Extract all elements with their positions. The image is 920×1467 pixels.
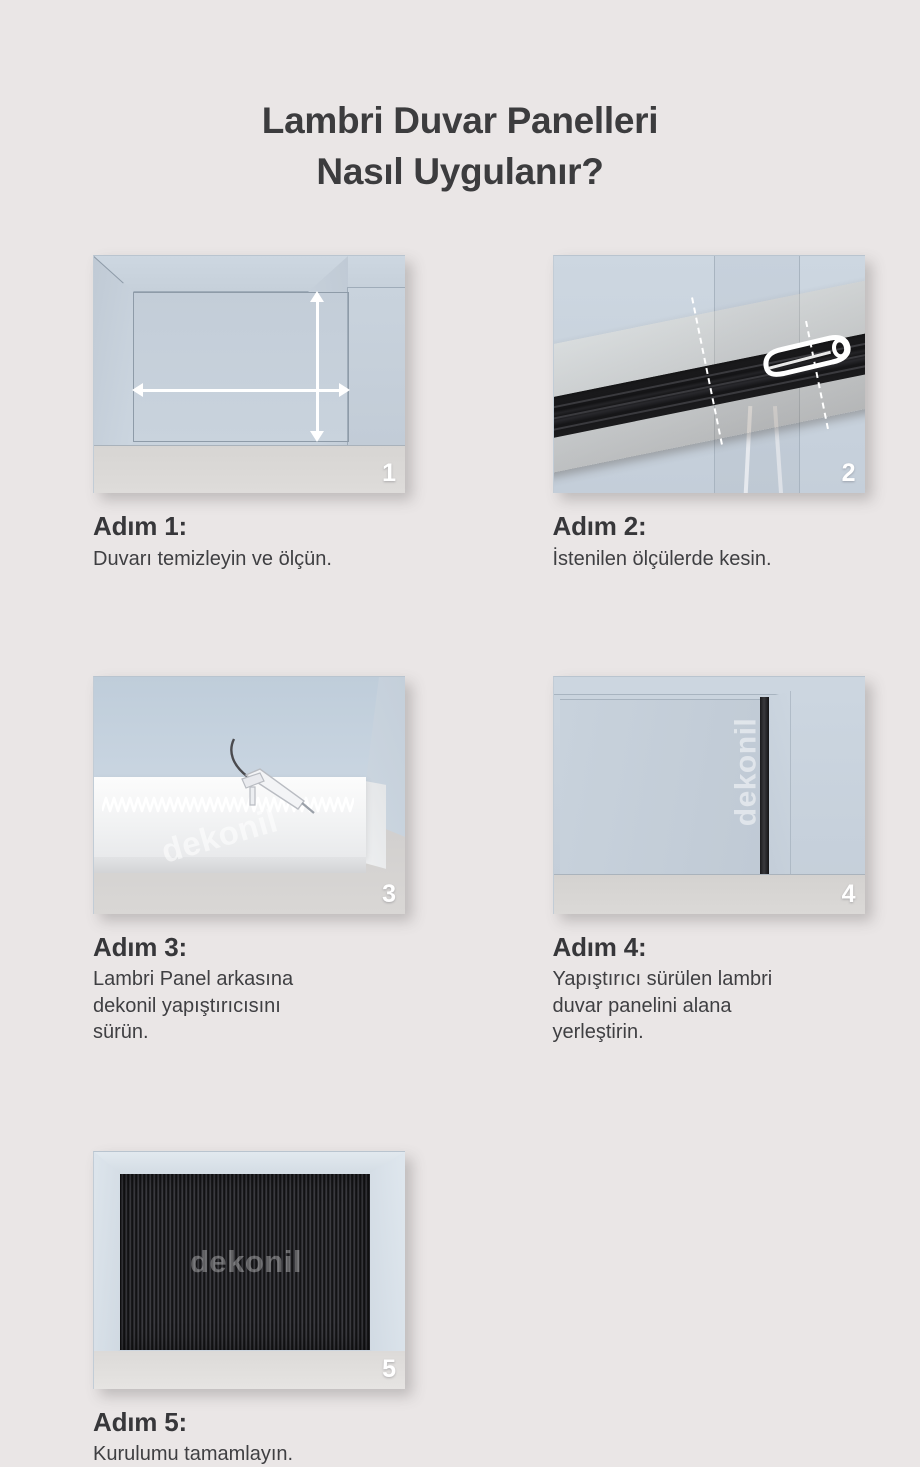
step-3: dekonil 3 Adım 3: Lambri Panel arkasına … [93, 676, 461, 1046]
step-3-heading: Adım 3: [93, 931, 423, 964]
wall-edge-left [133, 292, 134, 442]
slatted-panel-surface [120, 1174, 370, 1350]
step-4-heading: Adım 4: [553, 931, 883, 964]
step-2: 2 Adım 2: İstenilen ölçülerde kesin. [553, 255, 920, 572]
steps-row-2: dekonil 3 Adım 3: Lambri Panel arkasına … [0, 676, 920, 1046]
step-2-heading: Adım 2: [553, 510, 883, 543]
floor-surface [554, 874, 865, 914]
floor-surface [94, 445, 405, 493]
panel-bevel-edge [769, 691, 791, 887]
step-2-illustration: 2 [553, 255, 865, 493]
width-arrow-head-right [339, 383, 350, 397]
step-2-description: İstenilen ölçülerde kesin. [553, 546, 883, 572]
panel-thickness-edge [94, 857, 366, 873]
height-arrow-head-top [310, 291, 324, 302]
steps-grid: 1 Adım 1: Duvarı temizleyin ve ölçün. [0, 255, 920, 1467]
step-5: dekonil 5 Adım 5: Kurulumu tamamlayın. [93, 1151, 461, 1467]
step-5-description: Kurulumu tamamlayın. [93, 1441, 423, 1467]
width-measure-line [141, 389, 341, 392]
step-1-caption: Adım 1: Duvarı temizleyin ve ölçün. [93, 493, 423, 572]
steps-row-1: 1 Adım 1: Duvarı temizleyin ve ölçün. [0, 255, 920, 572]
height-measure-line [316, 301, 319, 433]
wall-panel-face [560, 699, 760, 875]
frame-top [94, 1152, 405, 1174]
page-title-line-1: Lambri Duvar Panelleri [0, 96, 920, 147]
width-arrow-head-left [132, 383, 143, 397]
step-3-description: Lambri Panel arkasına dekonil yapıştırıc… [93, 966, 423, 1045]
step-1-illustration: 1 [93, 255, 405, 493]
step-4-caption: Adım 4: Yapıştırıcı sürülen lambri duvar… [553, 914, 883, 1046]
step-1: 1 Adım 1: Duvarı temizleyin ve ölçün. [93, 255, 461, 572]
page-title: Lambri Duvar Panelleri Nasıl Uygulanır? [0, 0, 920, 197]
step-4-description: Yapıştırıcı sürülen lambri duvar panelin… [553, 966, 883, 1045]
height-arrow-head-bottom [310, 431, 324, 442]
side-wall-panel [347, 287, 405, 447]
step-number-badge: 3 [382, 880, 396, 909]
step-number-badge: 1 [382, 459, 396, 488]
step-5-heading: Adım 5: [93, 1406, 423, 1439]
step-number-badge: 5 [382, 1355, 396, 1384]
step-number-badge: 4 [842, 880, 856, 909]
page-title-line-2: Nasıl Uygulanır? [0, 147, 920, 198]
step-5-caption: Adım 5: Kurulumu tamamlayın. [93, 1389, 423, 1467]
caulking-gun-icon [226, 735, 322, 815]
side-wall-surface [790, 687, 865, 885]
step-number-badge: 2 [842, 459, 856, 488]
step-3-caption: Adım 3: Lambri Panel arkasına dekonil ya… [93, 914, 423, 1046]
step-5-illustration: dekonil 5 [93, 1151, 405, 1389]
step-1-heading: Adım 1: [93, 510, 423, 543]
step-4: dekonil 4 Adım 4: Yapıştırıcı sürülen la… [553, 676, 920, 1046]
steps-row-3: dekonil 5 Adım 5: Kurulumu tamamlayın. [0, 1151, 920, 1467]
step-4-illustration: dekonil 4 [553, 676, 865, 914]
panel-dark-edge [760, 697, 769, 877]
step-2-caption: Adım 2: İstenilen ölçülerde kesin. [553, 493, 883, 572]
step-1-description: Duvarı temizleyin ve ölçün. [93, 546, 423, 572]
step-row-3-empty-slot [553, 1151, 920, 1467]
frame-bottom [94, 1351, 405, 1389]
step-3-illustration: dekonil 3 [93, 676, 405, 914]
wall-edge-right [348, 292, 349, 442]
